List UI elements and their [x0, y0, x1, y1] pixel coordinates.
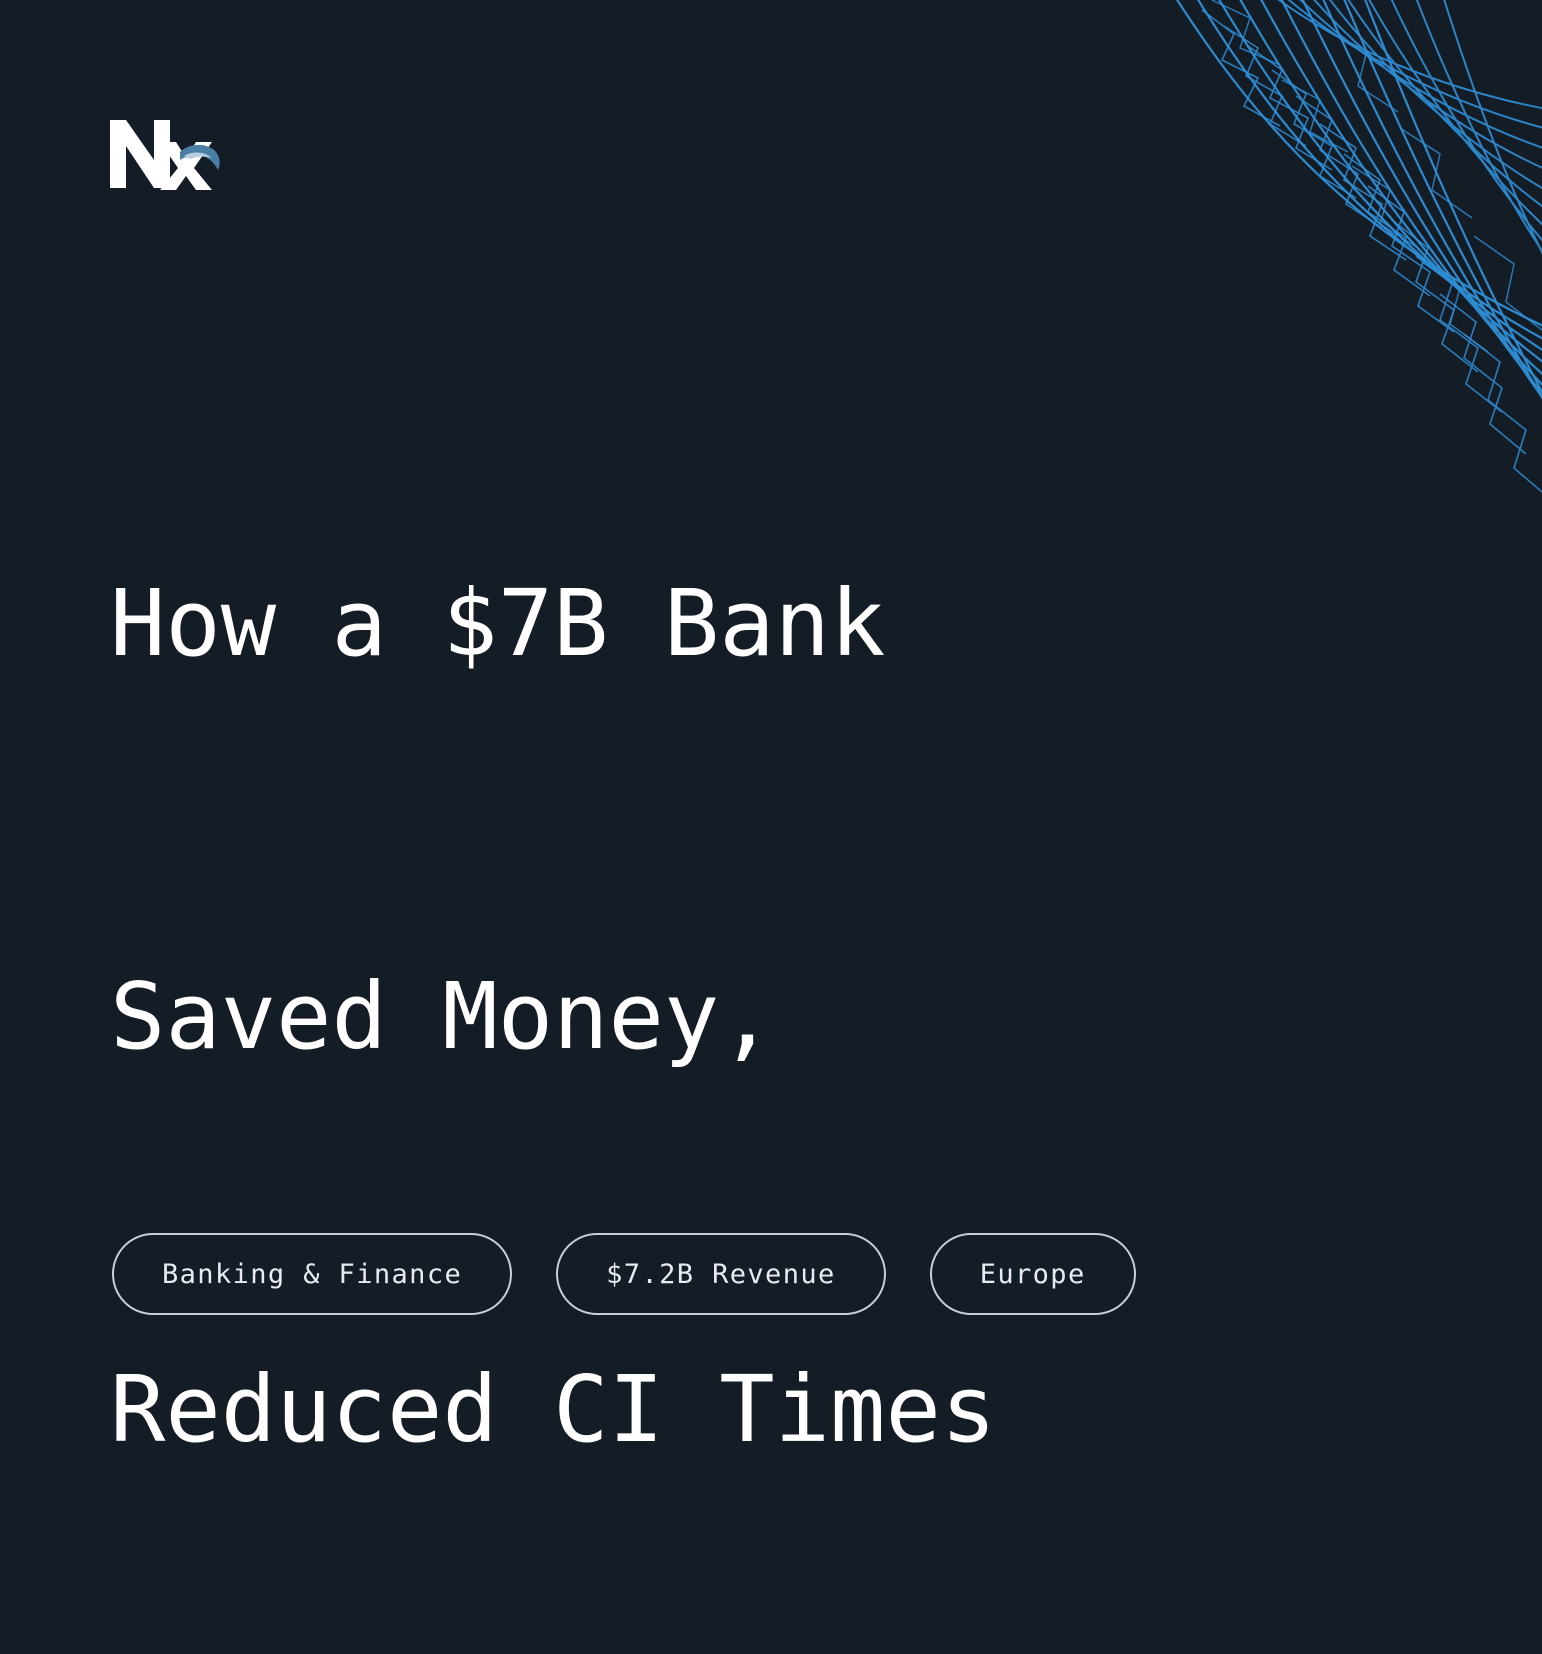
page-title: How a $7B Bank Saved Money, Reduced CI T…: [110, 296, 1410, 1654]
nx-logo[interactable]: [108, 112, 230, 190]
badge-industry[interactable]: Banking & Finance: [112, 1233, 512, 1315]
title-line: How a $7B Bank: [110, 558, 1410, 689]
badge-region[interactable]: Europe: [930, 1233, 1136, 1315]
title-line: Reduced CI Times: [110, 1344, 1410, 1475]
title-line: Saved Money,: [110, 951, 1410, 1082]
tag-badge-row: Banking & Finance $7.2B Revenue Europe: [112, 1233, 1136, 1315]
nx-logo-icon: [108, 112, 230, 190]
badge-revenue[interactable]: $7.2B Revenue: [556, 1233, 886, 1315]
